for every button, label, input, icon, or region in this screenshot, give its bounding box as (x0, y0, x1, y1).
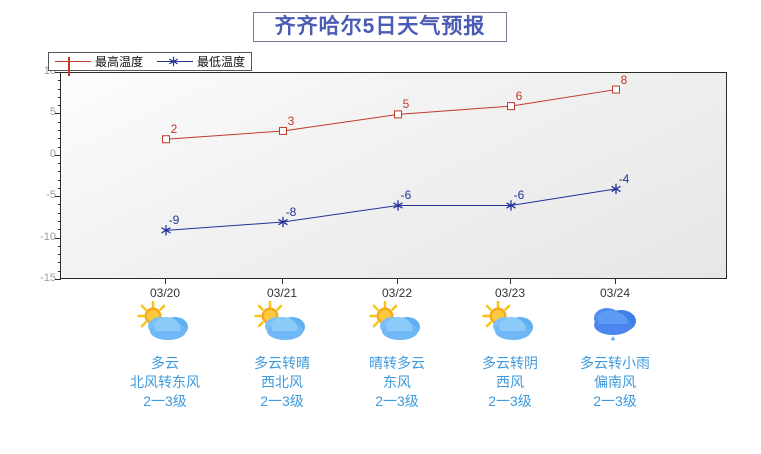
x-axis-tick (397, 279, 398, 284)
square-marker-icon (613, 86, 620, 93)
day-wind-force: 2一3级 (540, 392, 690, 411)
asterisk-marker-icon (157, 56, 193, 68)
y-axis-tick-label: -5 (22, 189, 56, 201)
y-axis-tick-label: 5 (22, 106, 56, 118)
data-point-label: 2 (171, 122, 178, 136)
y-axis-tick-label: -15 (22, 272, 56, 284)
legend-item-max-temp: 最高温度 (55, 53, 143, 70)
series-line-min-temp (166, 189, 616, 230)
sun-behind-cloud-icon (254, 300, 310, 346)
x-axis-tick (165, 279, 166, 284)
x-axis-tick (510, 279, 511, 284)
x-axis-tick-label: 03/24 (600, 286, 630, 300)
square-marker-icon (508, 103, 515, 110)
data-point-label: 8 (621, 73, 628, 87)
y-axis-labels: 1050-5-10-15 (18, 72, 56, 279)
legend-item-min-temp: 最低温度 (157, 53, 245, 70)
legend-label-min-temp: 最低温度 (197, 53, 245, 70)
chart-legend: 最高温度 最低温度 (48, 52, 252, 71)
x-axis-tick (615, 279, 616, 284)
y-axis-tick-label: 0 (22, 148, 56, 160)
sun-behind-cloud-icon (482, 300, 538, 346)
x-axis-tick-label: 03/23 (495, 286, 525, 300)
x-axis-tick-label: 03/22 (382, 286, 412, 300)
x-axis-ticks (60, 279, 727, 285)
plot-area: 23568-9-8-6-6-4 (60, 72, 727, 279)
square-marker-icon (55, 56, 91, 68)
square-marker-icon (395, 111, 402, 118)
data-point-label: 5 (403, 97, 410, 111)
day-wind-direction: 偏南风 (540, 373, 690, 392)
data-point-label: -6 (401, 188, 412, 202)
data-point-label: 6 (516, 89, 523, 103)
data-point-label: -9 (169, 213, 180, 227)
sun-behind-cloud-icon (137, 300, 193, 346)
square-marker-icon (280, 127, 287, 134)
data-point-label: -6 (514, 188, 525, 202)
legend-label-max-temp: 最高温度 (95, 53, 143, 70)
sun-behind-cloud-icon (369, 300, 425, 346)
page-title: 齐齐哈尔5日天气预报 (253, 12, 507, 42)
day-forecast-column: 多云转小雨偏南风2一3级 (540, 300, 690, 411)
square-marker-icon (163, 136, 170, 143)
data-point-label: 3 (288, 114, 295, 128)
data-point-label: -4 (619, 172, 630, 186)
x-axis-tick-label: 03/21 (267, 286, 297, 300)
day-condition: 多云转小雨 (540, 354, 690, 373)
daily-forecast-list: 多云北风转东风2一3级多云转晴西北风2一3级晴转多云东风2一3级多云转阴西风2一… (0, 300, 761, 450)
data-point-label: -8 (286, 205, 297, 219)
y-axis-tick-label: -10 (22, 231, 56, 243)
x-axis-tick-label: 03/20 (150, 286, 180, 300)
rain-cloud-icon (587, 300, 643, 346)
x-axis-tick (282, 279, 283, 284)
series-line-max-temp (166, 90, 616, 140)
